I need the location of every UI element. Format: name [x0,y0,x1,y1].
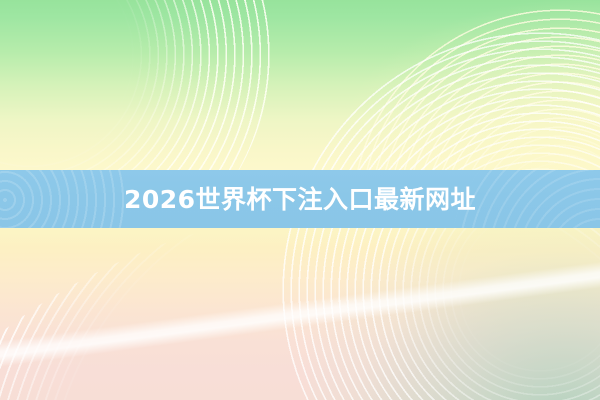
banner-title: 2026世界杯下注入口最新网址 [124,187,476,212]
title-banner-strip: 2026世界杯下注入口最新网址 [0,170,600,228]
promo-banner-image: 2026世界杯下注入口最新网址 [0,0,600,400]
